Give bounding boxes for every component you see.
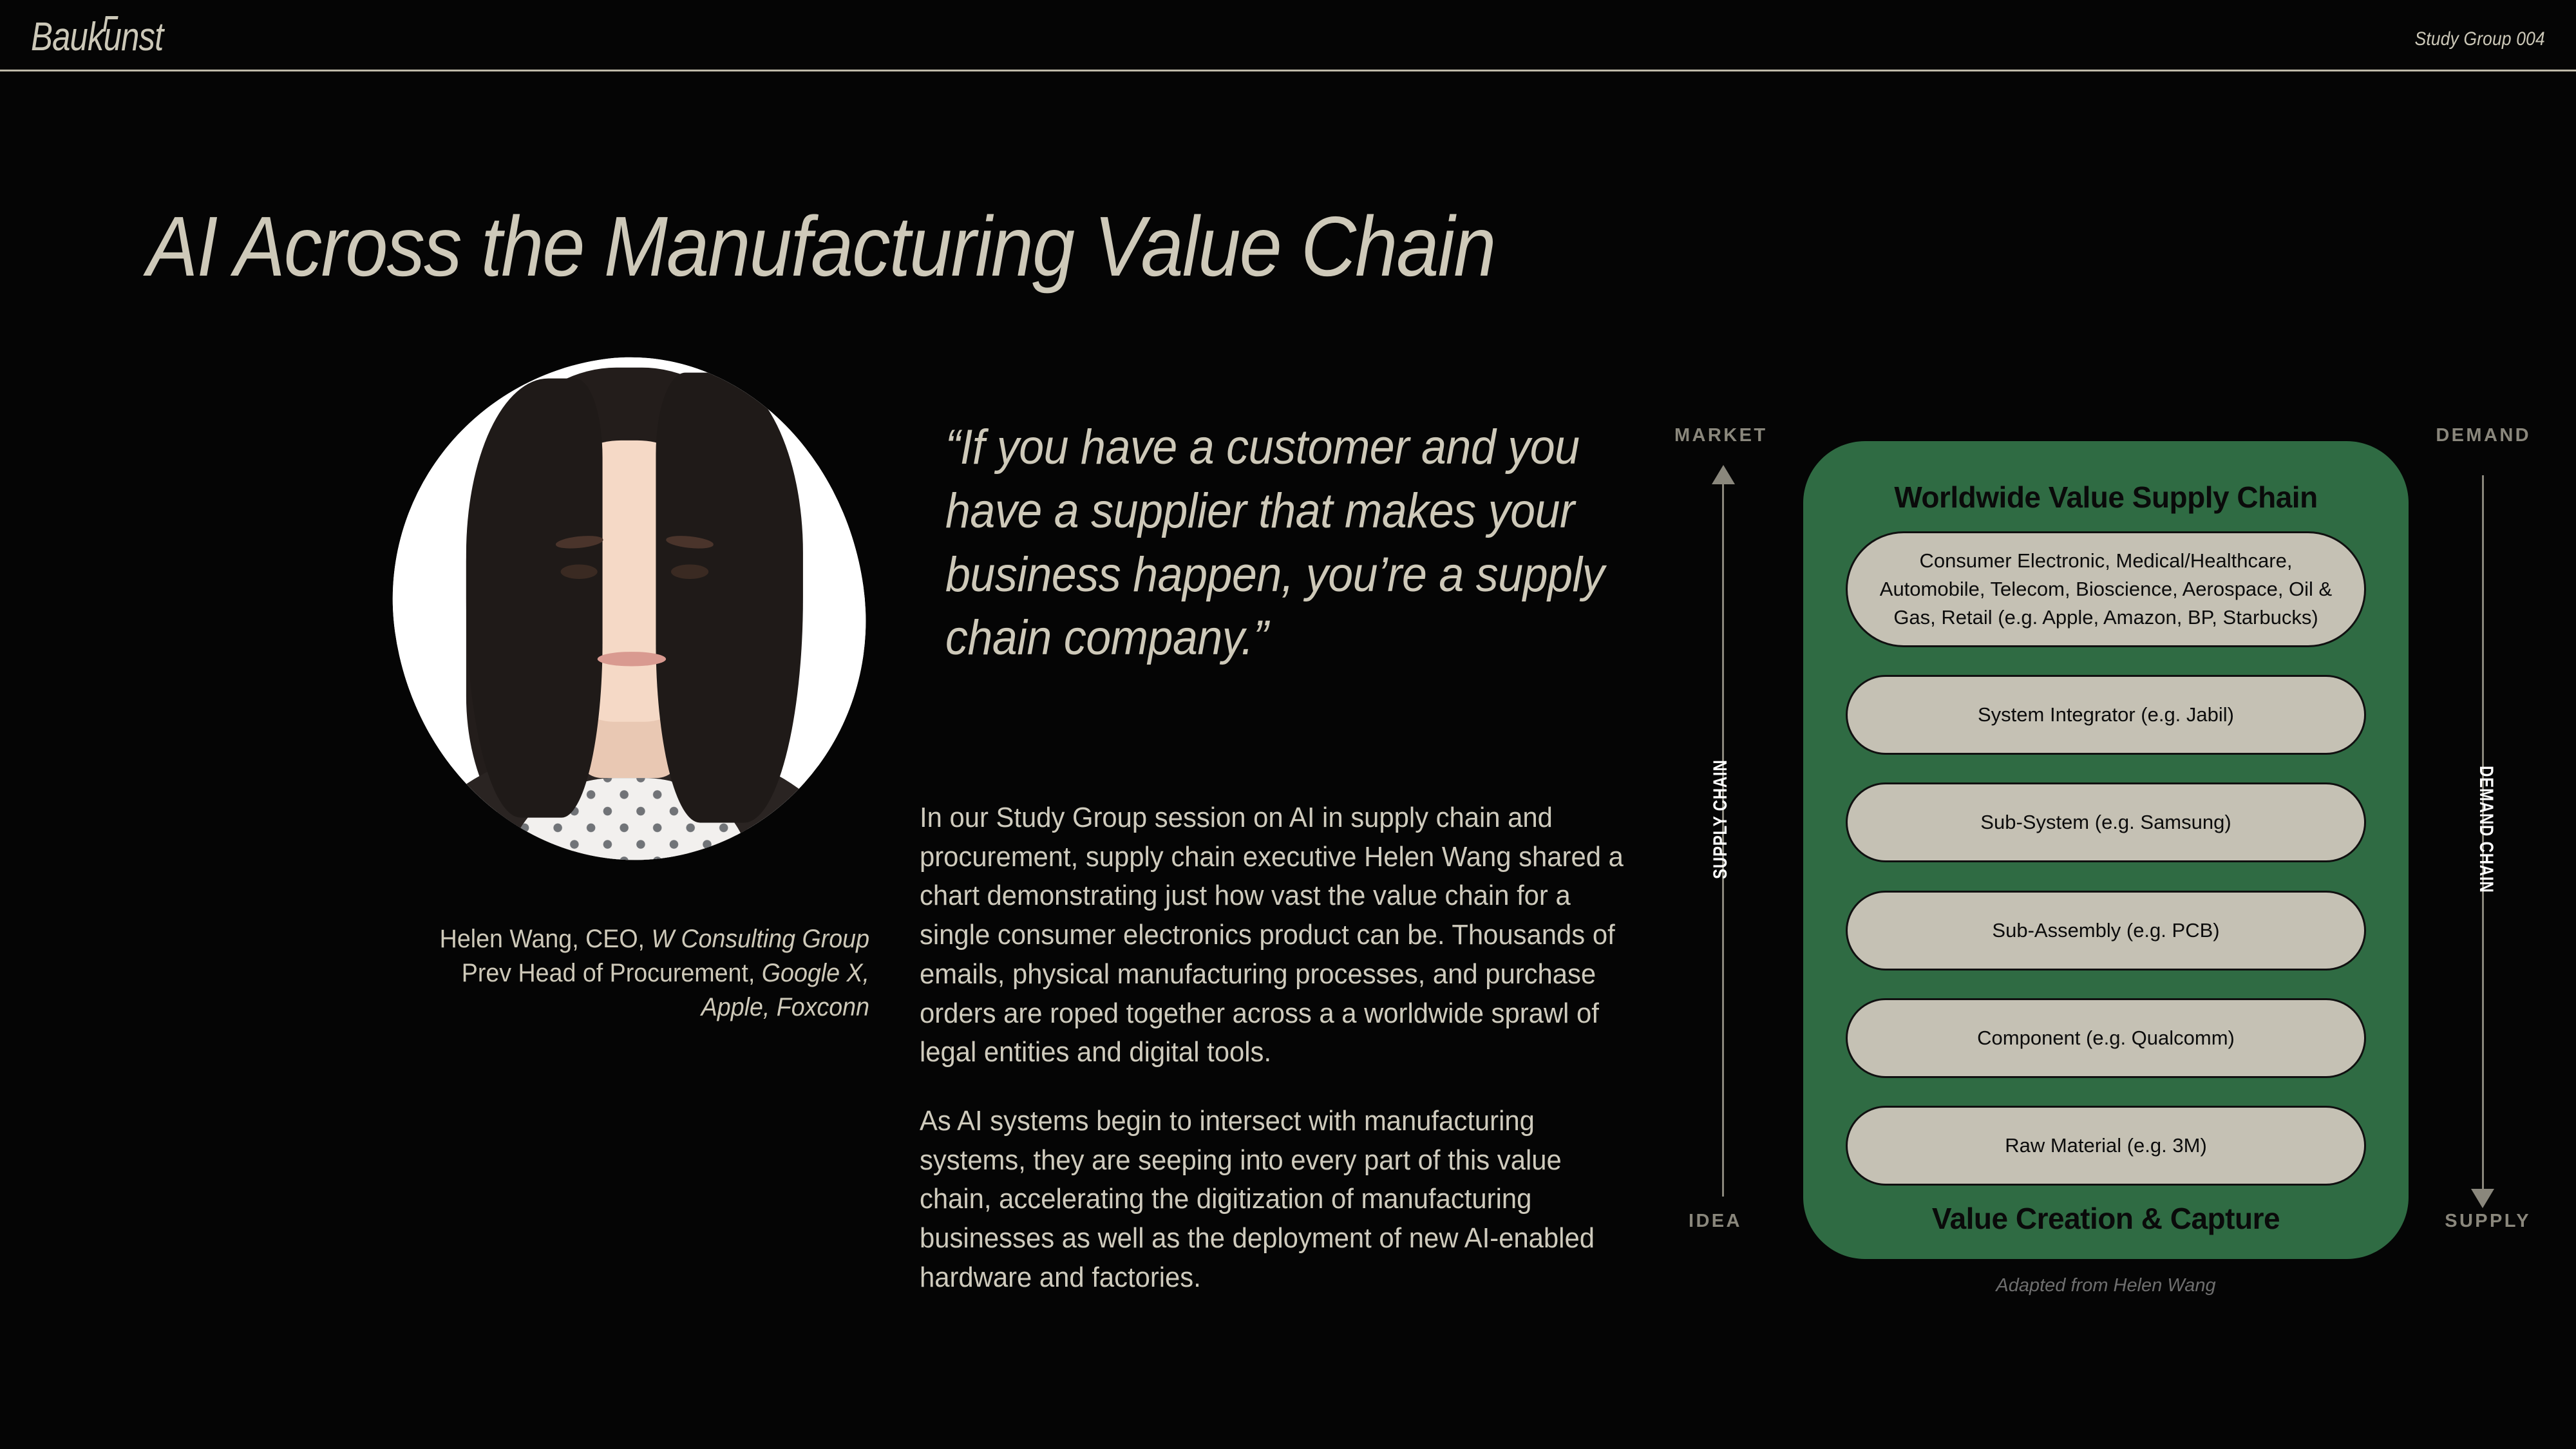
portrait-eye-right (671, 564, 708, 579)
layer-pill[interactable]: System Integrator (e.g. Jabil) (1846, 675, 2366, 755)
brand-u-mark-icon: u (70, 15, 88, 59)
axis-label-supply-chain: SUPPLY CHAIN (1710, 766, 1732, 879)
axis-label-market: MARKET (1674, 425, 1767, 446)
slide-root: Baukunst Study Group 004 AI Across the M… (0, 0, 2576, 1449)
attribution-prev-company-2: Apple, Foxconn (701, 993, 869, 1021)
attribution-line-1: Helen Wang, CEO, W Consulting Group (307, 922, 869, 956)
brand-suffix: kunst (88, 15, 163, 59)
axis-label-supply: SUPPLY (2445, 1211, 2531, 1232)
attribution-prev-company-1: Google X, (762, 959, 869, 987)
pull-quote: “If you have a customer and you have a s… (945, 416, 1633, 670)
axis-label-demand-chain: DEMAND CHAIN (2475, 766, 2497, 879)
speaker-portrait (394, 358, 864, 860)
speaker-attribution: Helen Wang, CEO, W Consulting Group Prev… (307, 922, 869, 1024)
header-divider (0, 70, 2576, 71)
layer-pill[interactable]: Raw Material (e.g. 3M) (1846, 1106, 2366, 1186)
card-title: Worldwide Value Supply Chain (1846, 480, 2366, 515)
body-paragraph-2: As AI systems begin to intersect with ma… (920, 1102, 1633, 1298)
diagram-caption: Adapted from Helen Wang (1803, 1275, 2409, 1296)
attribution-company: W Consulting Group (651, 925, 869, 953)
layer-pill[interactable]: Consumer Electronic, Medical/Healthcare,… (1846, 531, 2366, 647)
supply-chain-card: Worldwide Value Supply Chain Consumer El… (1803, 441, 2409, 1259)
brand-logo[interactable]: Baukunst (31, 14, 163, 60)
deck-identifier: Study Group 004 (2415, 28, 2545, 50)
portrait-photo (366, 328, 893, 891)
arrow-up-icon (1712, 465, 1735, 484)
axis-label-demand: DEMAND (2436, 425, 2531, 446)
layer-stack: Consumer Electronic, Medical/Healthcare,… (1846, 531, 2366, 1186)
portrait-mask (361, 328, 896, 891)
attribution-line-3: Apple, Foxconn (307, 990, 869, 1025)
layer-pill[interactable]: Sub-System (e.g. Samsung) (1846, 782, 2366, 862)
portrait-eye-left (561, 564, 598, 579)
attribution-name-role: Helen Wang, CEO, (440, 925, 652, 953)
brand-prefix: Ba (31, 15, 70, 59)
attribution-prev-role: Prev Head of Procurement, (462, 959, 762, 987)
portrait-mouth (598, 652, 666, 667)
card-footer: Value Creation & Capture (1846, 1201, 2366, 1236)
axis-label-idea: IDEA (1689, 1211, 1742, 1232)
body-copy: In our Study Group session on AI in supp… (920, 799, 1633, 1298)
layer-pill[interactable]: Sub-Assembly (e.g. PCB) (1846, 891, 2366, 971)
arrow-down-icon (2471, 1189, 2494, 1208)
body-paragraph-1: In our Study Group session on AI in supp… (920, 799, 1633, 1072)
layer-pill[interactable]: Component (e.g. Qualcomm) (1846, 998, 2366, 1078)
page-title: AI Across the Manufacturing Value Chain (147, 204, 1495, 290)
portrait-hair-left (466, 379, 603, 817)
attribution-line-2: Prev Head of Procurement, Google X, (307, 956, 869, 990)
portrait-hair-right (656, 373, 803, 823)
value-chain-diagram: MARKET IDEA SUPPLY CHAIN DEMAND SUPPLY D… (1674, 425, 2531, 1340)
header-bar: Baukunst Study Group 004 (0, 0, 2576, 71)
